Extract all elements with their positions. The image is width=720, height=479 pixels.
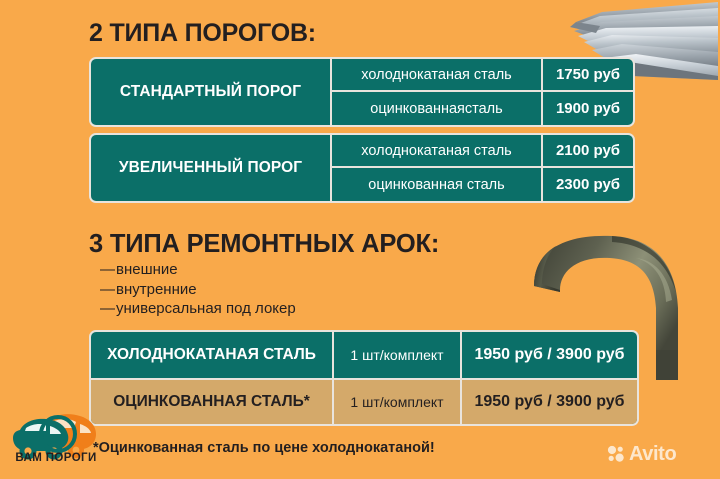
galvanized-footnote: *Оцинкованная сталь по цене холоднокатан… xyxy=(93,440,435,456)
sills-table-standard: СТАНДАРТНЫЙ ПОРОГ холоднокатаная сталь 1… xyxy=(89,57,635,127)
arch-quantity: 1 шт/комплект xyxy=(332,332,460,378)
arch-type-label: универсальная под локер xyxy=(116,299,296,319)
sill-price: 1900 руб xyxy=(541,90,633,125)
arch-price: 1950 руб / 3900 руб xyxy=(460,332,637,378)
table-row: ОЦИНКОВАННАЯ СТАЛЬ* 1 шт/комплект 1950 р… xyxy=(91,378,637,424)
arch-type-label: внутренние xyxy=(116,280,197,300)
sill-price: 2300 руб xyxy=(541,166,633,201)
list-item: — внутренние xyxy=(100,280,430,300)
sill-material: оцинкованнаясталь xyxy=(330,90,541,125)
avito-dots-icon xyxy=(607,445,625,463)
avito-wordmark: Avito xyxy=(629,444,676,464)
dash-bullet-icon: — xyxy=(100,299,116,319)
arch-quantity: 1 шт/комплект xyxy=(332,378,460,424)
avito-watermark: Avito xyxy=(607,444,676,464)
arches-table: ХОЛОДНОКАТАНАЯ СТАЛЬ 1 шт/комплект 1950 … xyxy=(89,330,639,426)
arch-type-label: внешние xyxy=(116,260,178,280)
arch-types-list: — внешние — внутренние — универсальная п… xyxy=(100,260,430,319)
sill-price: 2100 руб xyxy=(541,135,633,166)
sills-table-enlarged: УВЕЛИЧЕННЫЙ ПОРОГ холоднокатаная сталь 2… xyxy=(89,133,635,203)
sill-material: холоднокатаная сталь xyxy=(330,59,541,90)
sill-price: 1750 руб xyxy=(541,59,633,90)
sills-heading: 2 ТИПА ПОРОГОВ: xyxy=(89,19,316,48)
arch-material: ОЦИНКОВАННАЯ СТАЛЬ* xyxy=(91,378,332,424)
arch-material: ХОЛОДНОКАТАНАЯ СТАЛЬ xyxy=(91,332,332,378)
brand-logo-text: ВАМ ПОРОГИ xyxy=(8,452,104,464)
sill-material: оцинкованная сталь xyxy=(330,166,541,201)
table-row: ХОЛОДНОКАТАНАЯ СТАЛЬ 1 шт/комплект 1950 … xyxy=(91,332,637,378)
list-item: — внешние xyxy=(100,260,430,280)
dash-bullet-icon: — xyxy=(100,260,116,280)
table-row: УВЕЛИЧЕННЫЙ ПОРОГ холоднокатаная сталь 2… xyxy=(91,135,633,166)
arch-price: 1950 руб / 3900 руб xyxy=(460,378,637,424)
promo-poster: 2 ТИПА ПОРОГОВ: СТАНДАРТНЫЙ ПОРОГ холодн… xyxy=(0,0,720,479)
table-row: СТАНДАРТНЫЙ ПОРОГ холоднокатаная сталь 1… xyxy=(91,59,633,90)
sill-group-label-standard: СТАНДАРТНЫЙ ПОРОГ xyxy=(91,59,330,125)
arches-heading: 3 ТИПА РЕМОНТНЫХ АРОК: xyxy=(89,230,439,259)
list-item: — универсальная под локер xyxy=(100,299,430,319)
sill-material: холоднокатаная сталь xyxy=(330,135,541,166)
sill-group-label-enlarged: УВЕЛИЧЕННЫЙ ПОРОГ xyxy=(91,135,330,201)
dash-bullet-icon: — xyxy=(100,280,116,300)
